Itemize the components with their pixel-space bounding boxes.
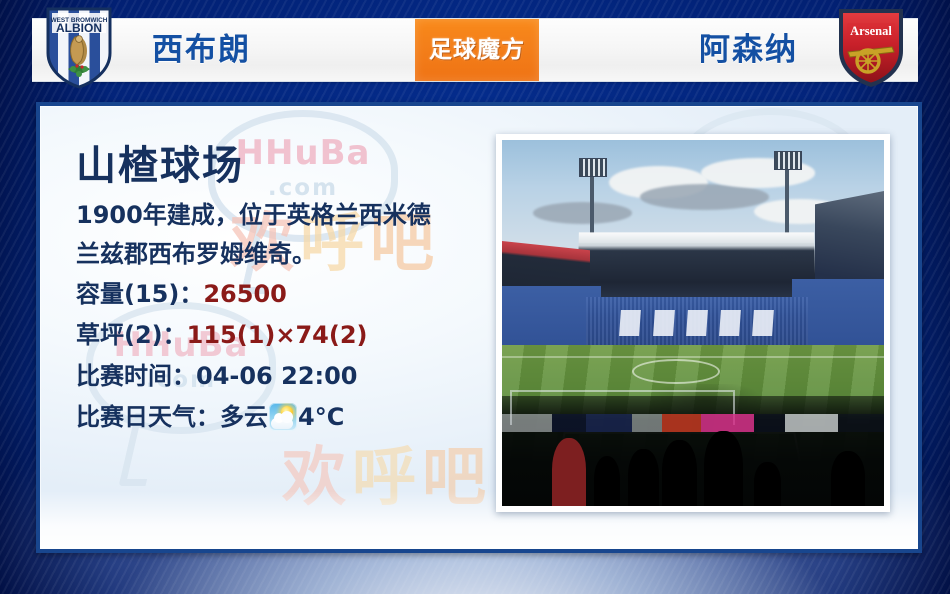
spectator-silhouette-3: [628, 449, 659, 506]
weather-value: 多云: [220, 403, 268, 431]
site-logo-label: 足球魔方: [415, 19, 539, 81]
spectator-silhouette-1: [552, 438, 586, 506]
match-time-value: 04-06 22:00: [196, 362, 358, 390]
match-header-bar: 西布朗 阿森纳 足球魔方: [32, 18, 918, 82]
pitch-value: 115(1)×74(2): [187, 321, 368, 349]
spectator-silhouette-6: [754, 462, 781, 506]
away-team-crest-icon: Arsenal: [834, 5, 908, 89]
temperature-value: 4°C: [298, 403, 344, 431]
svg-text:Arsenal: Arsenal: [850, 24, 892, 38]
spectator-silhouette-5: [704, 431, 742, 506]
weather-label: 比赛日天气：: [76, 403, 220, 431]
capacity-row: 容量(15)：26500: [76, 274, 496, 315]
cloud-2: [640, 184, 770, 210]
stadium-photo-frame[interactable]: [496, 134, 890, 512]
spectator-silhouette-4: [662, 440, 696, 506]
stadium-description-line-2: 兰兹郡西布罗姆维奇。: [76, 235, 496, 274]
spectator-silhouette-7: [831, 451, 865, 506]
home-team-name: 西布朗: [152, 31, 251, 69]
stadium-name: 山楂球场: [76, 142, 496, 190]
svg-text:ALBION: ALBION: [56, 21, 102, 35]
app-root: 西布朗 阿森纳 足球魔方 WEST BROMWICH ALBION: [0, 0, 950, 594]
stadium-info-block: 山楂球场 1900年建成，位于英格兰西米德 兰兹郡西布罗姆维奇。 容量(15)：…: [76, 142, 496, 438]
photo-advert-boards: [502, 414, 884, 433]
stadium-info-panel: HHuBa .com .com 欢呼吧 HHuBa .com 欢呼吧 山楂球场 …: [36, 102, 922, 553]
stadium-photo: [502, 140, 884, 506]
photo-foreground-crowd: [502, 396, 884, 506]
capacity-label: 容量(15)：: [76, 280, 203, 308]
spectator-silhouette-2: [594, 456, 621, 507]
pitch-row: 草坪(2)：115(1)×74(2): [76, 315, 496, 356]
pitch-label: 草坪(2)：: [76, 321, 187, 349]
weather-row: 比赛日天气：多云4°C: [76, 397, 496, 438]
photo-stand-lettering: [620, 310, 773, 336]
match-time-row: 比赛时间：04-06 22:00: [76, 356, 496, 397]
site-logo[interactable]: 足球魔方: [415, 19, 539, 81]
partly-cloudy-icon: [269, 403, 297, 431]
cloud-4: [533, 202, 632, 224]
away-team-name: 阿森纳: [699, 31, 798, 69]
capacity-value: 26500: [203, 280, 287, 308]
home-team-crest-icon: WEST BROMWICH ALBION: [42, 5, 116, 89]
match-time-label: 比赛时间：: [76, 362, 196, 390]
stadium-description-line-1: 1900年建成，位于英格兰西米德: [76, 196, 496, 235]
